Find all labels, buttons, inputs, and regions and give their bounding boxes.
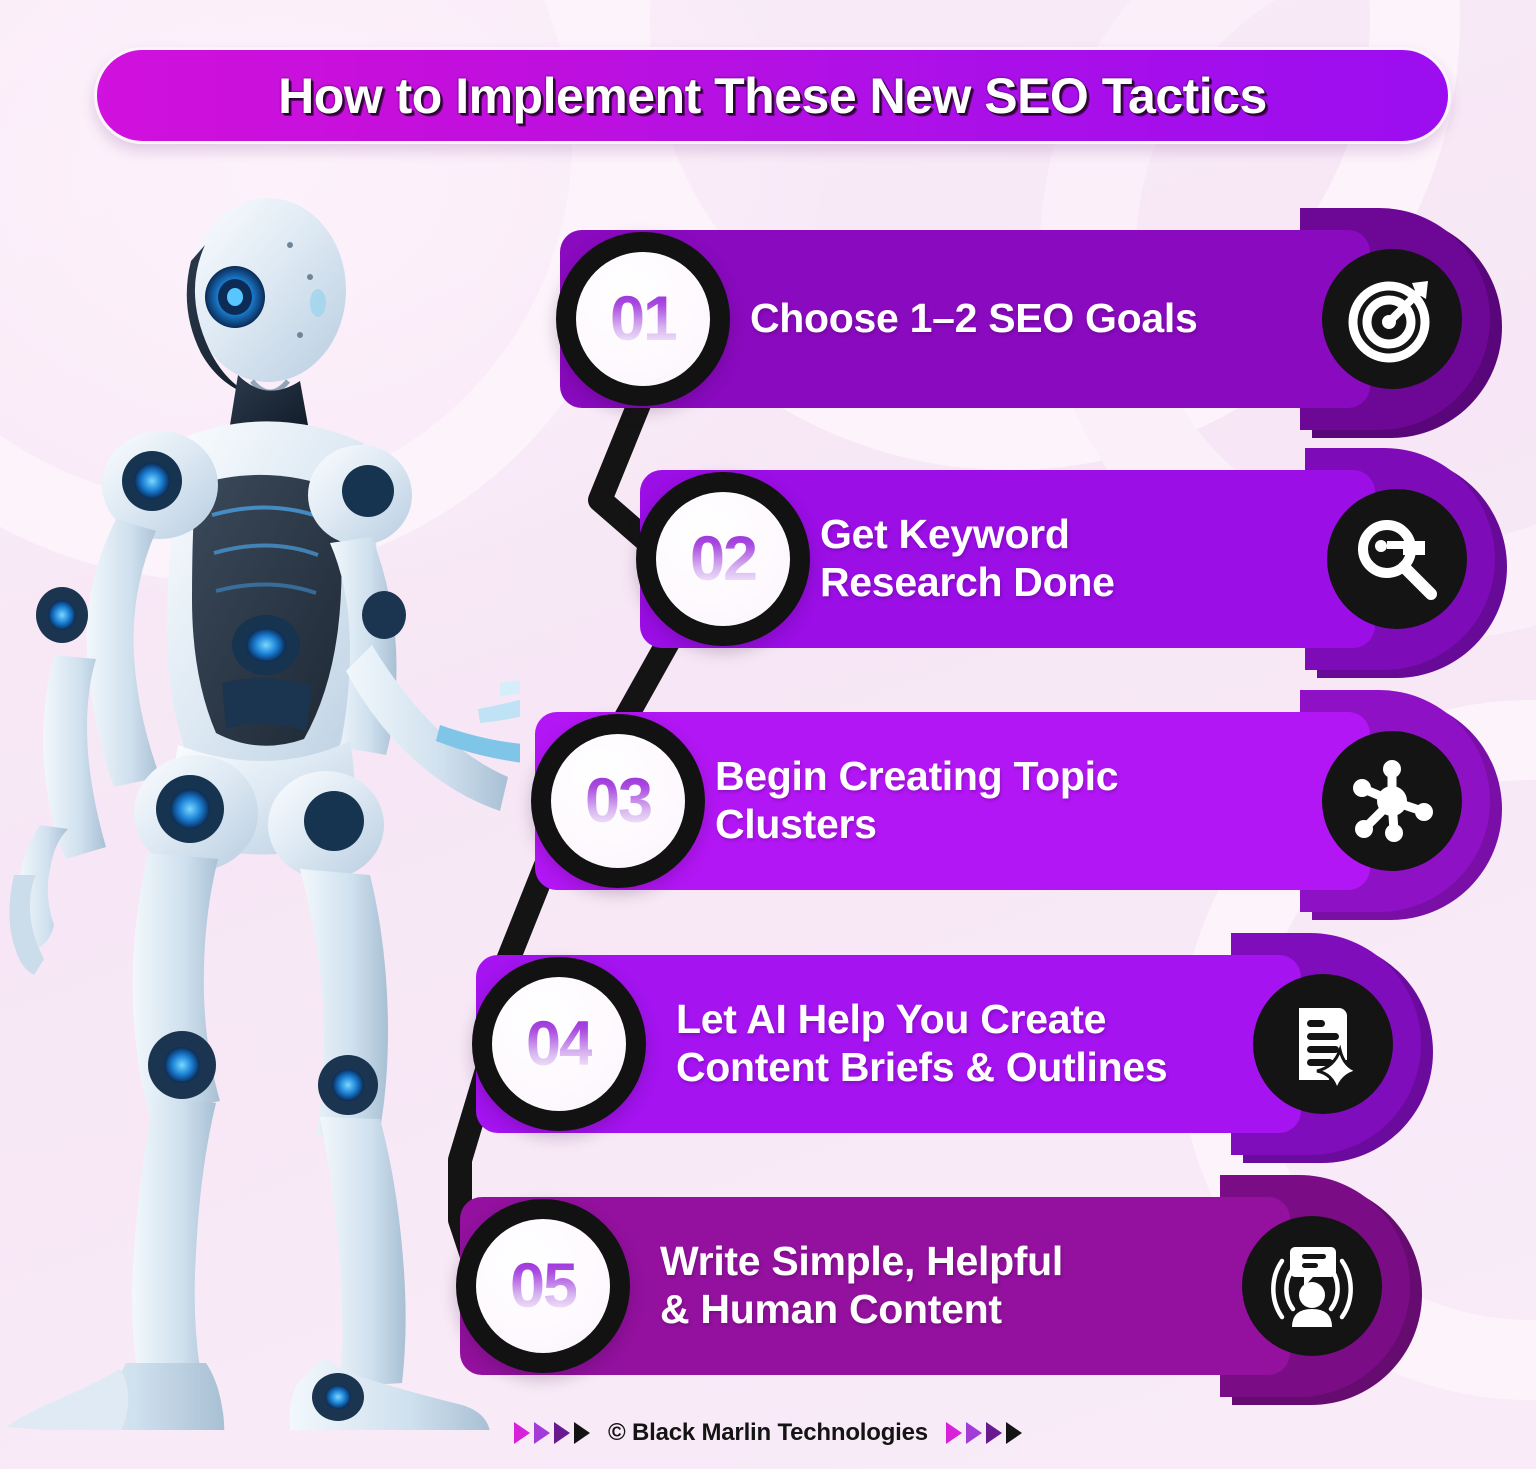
step-label-line: Content Briefs & Outlines [676,1044,1167,1092]
step-item[interactable]: Choose 1–2 SEO Goals 01 [560,230,1490,408]
copyright-text: © Black Marlin Technologies [608,1419,928,1447]
step-icon-disc [1242,1216,1382,1356]
arrow-triangle-icon [534,1422,550,1444]
person-broadcast-icon [1265,1239,1359,1333]
step-label-line: & Human Content [660,1286,1063,1334]
footer-right-arrows [946,1422,1022,1444]
step-label: Begin Creating Topic Clusters [715,753,1118,848]
arrow-triangle-icon [1006,1422,1022,1444]
infographic-canvas: How to Implement These New SEO Tactics [0,0,1536,1469]
step-icon-disc [1322,731,1462,871]
step-item[interactable]: Write Simple, Helpful & Human Content [460,1197,1410,1375]
step-label: Choose 1–2 SEO Goals [750,295,1197,343]
step-number-badge[interactable]: 01 [556,232,730,406]
step-label-line: Get Keyword [820,511,1115,559]
footer-left-arrows [514,1422,590,1444]
step-label-line: Clusters [715,801,1118,849]
step-icon-disc [1253,974,1393,1114]
arrow-triangle-icon [946,1422,962,1444]
step-number-inner: 04 [492,977,626,1111]
step-number-inner: 01 [576,252,710,386]
step-label-line: Write Simple, Helpful [660,1238,1063,1286]
document-sparkle-icon [1277,998,1369,1090]
page-title-banner: How to Implement These New SEO Tactics [94,47,1451,144]
network-cluster-icon [1346,755,1438,847]
step-label-line: Research Done [820,559,1115,607]
step-item[interactable]: Let AI Help You Create Content Briefs & … [476,955,1421,1133]
step-label: Get Keyword Research Done [820,511,1115,606]
steps-list: Choose 1–2 SEO Goals 01 [0,0,1536,1469]
target-icon [1346,273,1438,365]
step-number: 03 [585,765,651,837]
step-label-line: Begin Creating Topic [715,753,1118,801]
step-number: 04 [526,1008,592,1080]
page-title: How to Implement These New SEO Tactics [278,67,1267,125]
step-item[interactable]: Begin Creating Topic Clusters [535,712,1490,890]
step-icon-disc [1322,249,1462,389]
step-label-line: Let AI Help You Create [676,996,1167,1044]
step-label: Let AI Help You Create Content Briefs & … [676,996,1167,1091]
step-number-badge[interactable]: 04 [472,957,646,1131]
step-label: Write Simple, Helpful & Human Content [660,1238,1063,1333]
arrow-triangle-icon [514,1422,530,1444]
footer: © Black Marlin Technologies [0,1419,1536,1447]
step-number-badge[interactable]: 03 [531,714,705,888]
step-number-badge[interactable]: 05 [456,1199,630,1373]
key-search-icon [1351,513,1443,605]
step-icon-disc [1327,489,1467,629]
arrow-triangle-icon [574,1422,590,1444]
step-number-inner: 02 [656,492,790,626]
arrow-triangle-icon [554,1422,570,1444]
step-number: 05 [510,1250,576,1322]
step-number-inner: 05 [476,1219,610,1353]
arrow-triangle-icon [966,1422,982,1444]
step-item[interactable]: Get Keyword Research Done 02 [640,470,1495,648]
step-number: 01 [610,283,676,355]
step-number: 02 [690,523,756,595]
step-number-badge[interactable]: 02 [636,472,810,646]
step-number-inner: 03 [551,734,685,868]
arrow-triangle-icon [986,1422,1002,1444]
